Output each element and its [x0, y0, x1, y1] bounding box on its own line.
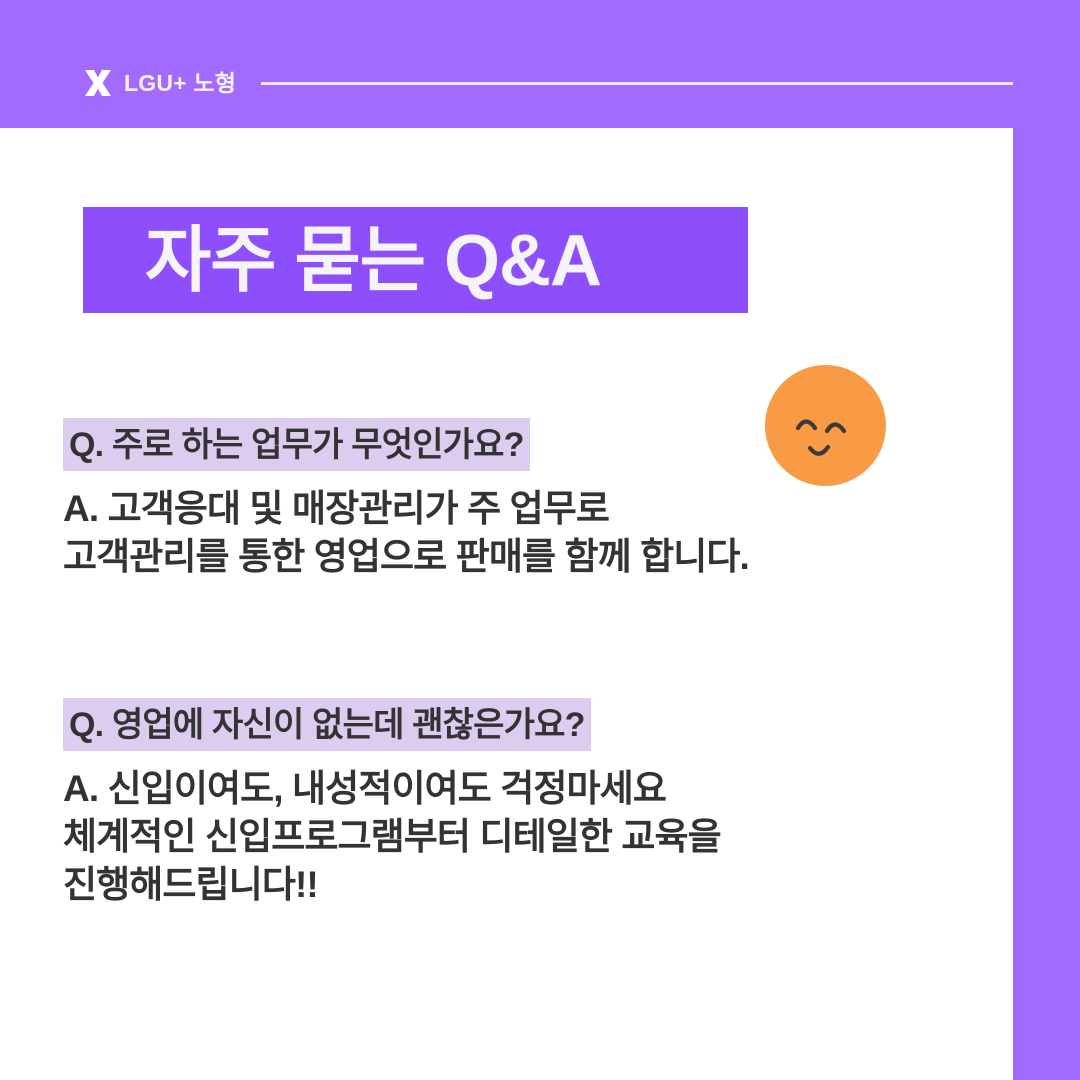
page-title: 자주 묻는 Q&A [145, 213, 845, 309]
lgu-x-mark-icon [83, 68, 113, 98]
brand-name: LGU+ 노형 [124, 72, 236, 95]
qa-answer: A. 신입이여도, 내성적이여도 걱정마세요 체계적인 신입프로그램부터 디테일… [63, 765, 983, 909]
poster-canvas: LGU+ 노형 자주 묻는 Q&A Q. 주로 하는 업무가 무엇인가요? A.… [0, 0, 1080, 1080]
qa-question: Q. 영업에 자신이 없는데 괜찮은가요? [63, 698, 591, 751]
qa-answer: A. 고객응대 및 매장관리가 주 업무로 고객관리를 통한 영업으로 판매를 … [63, 485, 983, 581]
brand-lockup: LGU+ 노형 [83, 62, 236, 104]
qa-item: Q. 주로 하는 업무가 무엇인가요? A. 고객응대 및 매장관리가 주 업무… [63, 418, 983, 581]
header-bar: LGU+ 노형 [0, 0, 1080, 128]
qa-question: Q. 주로 하는 업무가 무엇인가요? [63, 418, 530, 471]
header-divider [261, 82, 1013, 85]
qa-item: Q. 영업에 자신이 없는데 괜찮은가요? A. 신입이여도, 내성적이여도 걱… [63, 698, 983, 909]
